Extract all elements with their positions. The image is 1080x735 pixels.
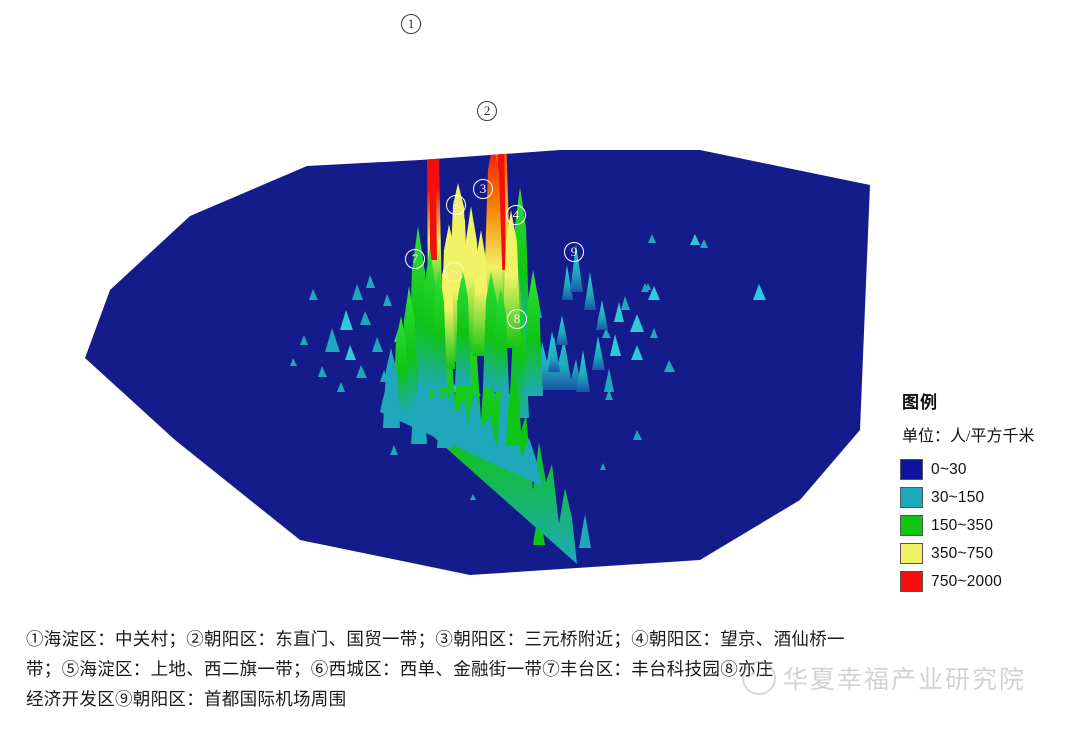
surface-canvas bbox=[0, 0, 900, 610]
legend-unit: 单位：人/平方千米 bbox=[902, 422, 1076, 446]
legend-swatch-3 bbox=[900, 543, 923, 564]
map-marker-3[interactable]: 3 bbox=[473, 179, 493, 199]
map-marker-6[interactable]: 6 bbox=[444, 262, 464, 282]
legend-swatch-2 bbox=[900, 515, 923, 536]
surface-plot: 1 2 3 4 5 6 7 8 9 bbox=[0, 0, 900, 610]
legend-row-0: 0~30 bbox=[900, 459, 1076, 480]
figure-root: 1 2 3 4 5 6 7 8 9 图例 单位：人/平方千米 0~30 30~1… bbox=[0, 0, 1080, 735]
map-marker-2[interactable]: 2 bbox=[477, 101, 497, 121]
caption-line-2: 带；⑤海淀区：上地、西二旗一带；⑥西城区：西单、金融街一带⑦丰台区：丰台科技园⑧… bbox=[26, 654, 1056, 684]
legend-label-3: 350~750 bbox=[931, 545, 993, 563]
legend-swatch-4 bbox=[900, 571, 923, 592]
legend-row-2: 150~350 bbox=[900, 515, 1076, 536]
map-marker-7[interactable]: 7 bbox=[405, 249, 425, 269]
map-marker-1[interactable]: 1 bbox=[401, 14, 421, 34]
base-plane bbox=[85, 150, 870, 575]
legend-row-1: 30~150 bbox=[900, 487, 1076, 508]
legend-row-4: 750~2000 bbox=[900, 571, 1076, 592]
legend-swatch-1 bbox=[900, 487, 923, 508]
legend-label-0: 0~30 bbox=[931, 461, 967, 479]
legend-label-4: 750~2000 bbox=[931, 573, 1002, 591]
map-marker-8[interactable]: 8 bbox=[507, 309, 527, 329]
map-marker-4[interactable]: 4 bbox=[506, 205, 526, 225]
legend: 图例 单位：人/平方千米 0~30 30~150 150~350 350~750… bbox=[900, 388, 1076, 599]
legend-label-1: 30~150 bbox=[931, 489, 984, 507]
legend-swatch-0 bbox=[900, 459, 923, 480]
figure-caption: ①海淀区：中关村；②朝阳区：东直门、国贸一带；③朝阳区：三元桥附近；④朝阳区：望… bbox=[26, 624, 1056, 714]
caption-line-1: ①海淀区：中关村；②朝阳区：东直门、国贸一带；③朝阳区：三元桥附近；④朝阳区：望… bbox=[26, 624, 1056, 654]
caption-line-3: 经济开发区⑨朝阳区：首都国际机场周围 bbox=[26, 684, 1056, 714]
legend-title: 图例 bbox=[902, 388, 1076, 413]
legend-label-2: 150~350 bbox=[931, 517, 993, 535]
map-marker-5[interactable]: 5 bbox=[446, 195, 466, 215]
map-marker-9[interactable]: 9 bbox=[564, 242, 584, 262]
legend-row-3: 350~750 bbox=[900, 543, 1076, 564]
